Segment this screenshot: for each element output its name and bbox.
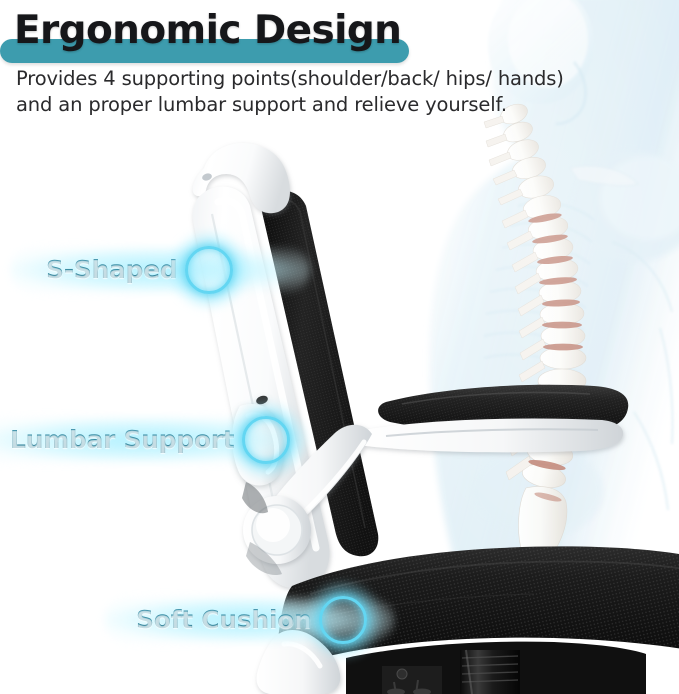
header: Ergonomic Design Provides 4 supporting p…: [0, 0, 679, 130]
subtitle-line-1: Provides 4 supporting points(shoulder/ba…: [16, 66, 616, 92]
glow-ring-icon: [185, 246, 233, 294]
glow-ring-icon: [242, 416, 290, 464]
callout-soft-cushion-label: Soft Cushion: [136, 605, 311, 635]
page-title: Ergonomic Design: [14, 8, 401, 54]
title-block: Ergonomic Design: [14, 8, 401, 66]
callout-s-shaped[interactable]: S-Shaped: [46, 246, 233, 294]
callout-s-shaped-label: S-Shaped: [46, 255, 177, 285]
infographic-canvas: Ergonomic Design Provides 4 supporting p…: [0, 0, 679, 694]
callout-soft-cushion[interactable]: Soft Cushion: [136, 596, 367, 644]
callout-lumbar-support[interactable]: Lumbar Support: [10, 416, 290, 464]
callout-lumbar-support-label: Lumbar Support: [10, 425, 234, 455]
glow-ring-icon: [319, 596, 367, 644]
subtitle-description: Provides 4 supporting points(shoulder/ba…: [16, 66, 616, 118]
subtitle-line-2: and an proper lumbar support and relieve…: [16, 92, 616, 118]
